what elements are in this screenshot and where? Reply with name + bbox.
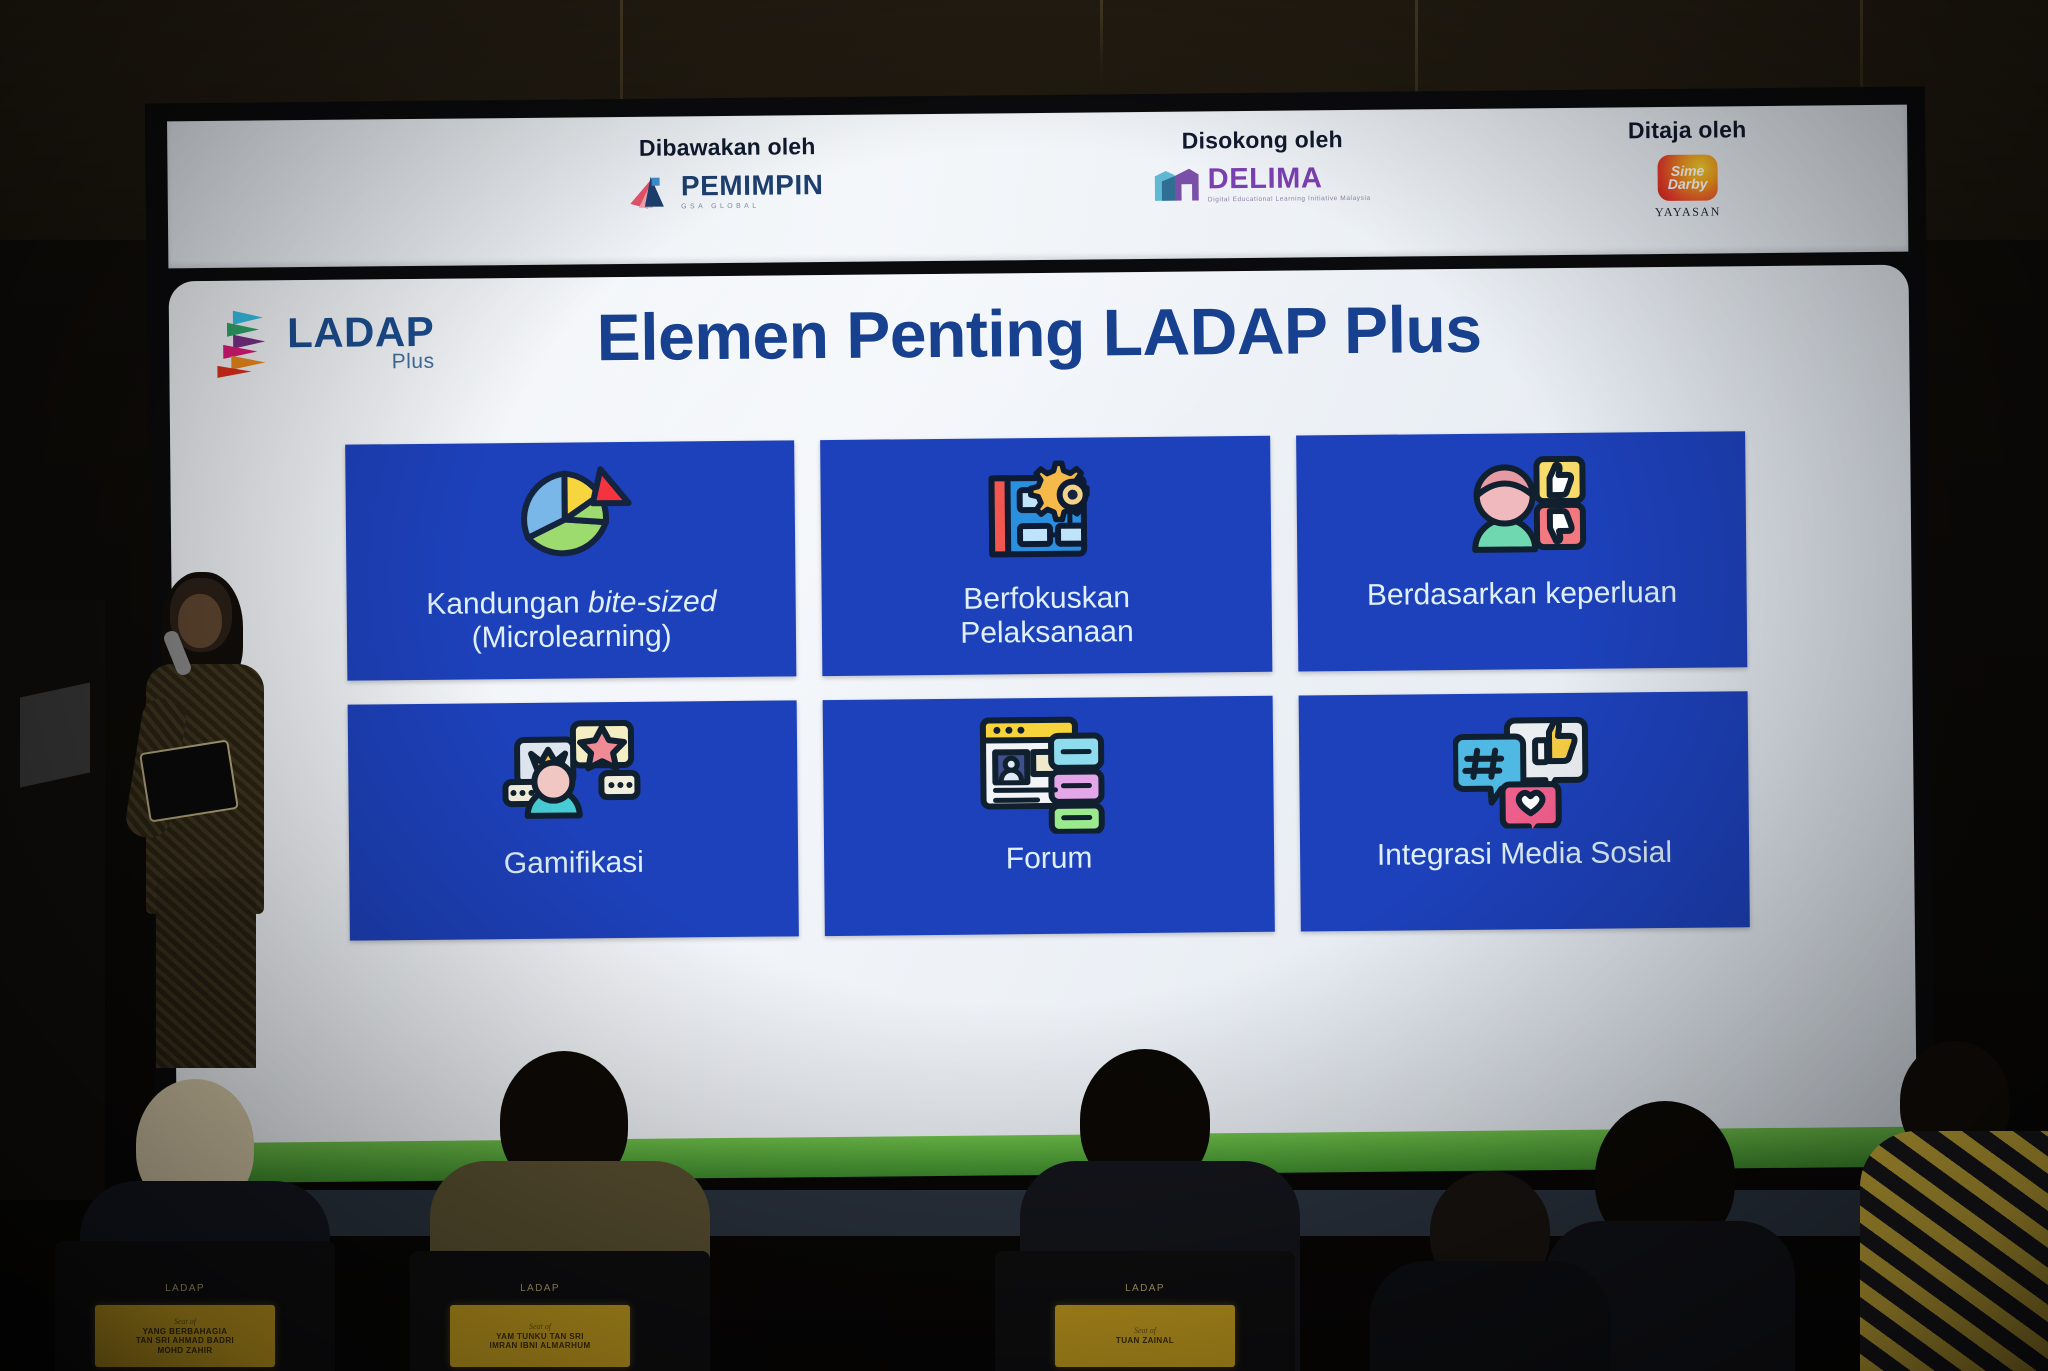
delima-logo-icon: DELIMA Digital Educational Learning Init…: [1098, 163, 1428, 205]
pemimpin-wordmark: PEMIMPIN: [681, 171, 824, 200]
nameplate-line1: YAM TUNKU TAN SRI: [496, 1332, 584, 1341]
nameplate-script: Seat of: [174, 1317, 196, 1326]
card-label-prefix: Gamifikasi: [504, 846, 644, 880]
elements-grid: Kandungan bite-sized (Microlearning): [345, 431, 1750, 940]
gamification-badge-icon: [500, 716, 645, 841]
card-label-prefix: Berdasarkan keperluan: [1367, 576, 1678, 612]
projection-screen: Dibawakan oleh PEMIMPIN GSA GLOBAL Disok…: [145, 86, 1935, 1183]
audience-member: [1370, 1181, 1600, 1371]
delima-tagline: Digital Educational Learning Initiative …: [1208, 196, 1371, 204]
card-label-prefix: Integrasi Media Sosial: [1377, 836, 1672, 872]
audience-member: [1860, 1041, 2048, 1371]
sponsor-block-supporter: Disokong oleh DELIMA Digital Educational…: [1097, 125, 1428, 205]
sponsor-label: Disokong oleh: [1097, 125, 1427, 155]
delima-wordmark: DELIMA: [1208, 164, 1371, 195]
card-label: Kandungan bite-sized (Microlearning): [414, 585, 729, 655]
card-label-emphasis: bite-sized: [588, 585, 717, 619]
pemimpin-logo-icon: PEMIMPIN GSA GLOBAL: [568, 170, 888, 211]
card-label: Gamifikasi: [492, 846, 656, 881]
tablet-device: [139, 739, 239, 822]
blueprint-gear-icon: [977, 451, 1114, 576]
auditorium-scene: Dibawakan oleh PEMIMPIN GSA GLOBAL Disok…: [0, 0, 2048, 1371]
nameplate-brand: LADAP: [1055, 1283, 1235, 1294]
pie-chart-icon: [504, 456, 637, 581]
sponsor-label: Ditaja oleh: [1537, 115, 1837, 145]
card-label-line2: (Microlearning): [471, 619, 671, 654]
card-label-prefix: Forum: [1006, 842, 1093, 876]
pemimpin-tagline: GSA GLOBAL: [681, 202, 824, 210]
sponsor-label: Dibawakan oleh: [567, 132, 887, 162]
nameplate-line1: TUAN ZAINAL: [1116, 1336, 1174, 1345]
card-needs-based[interactable]: Berdasarkan keperluan: [1296, 431, 1748, 671]
card-label: Berdasarkan keperluan: [1355, 576, 1690, 613]
nameplate-line3: MOHD ZAHIR: [157, 1346, 212, 1355]
sponsor-strip: Dibawakan oleh PEMIMPIN GSA GLOBAL Disok…: [167, 105, 1908, 269]
nameplate: LADAP Seat of YAM TUNKU TAN SRI IMRAN IB…: [450, 1305, 630, 1367]
nameplate-line2: TAN SRI AHMAD BADRI: [136, 1336, 234, 1345]
card-label-line2: Pelaksanaan: [960, 615, 1134, 650]
nameplate-line1: YANG BERBAHAGIA: [143, 1327, 228, 1336]
nameplate-line2: IMRAN IBNI ALMARHUM: [489, 1341, 590, 1350]
nameplate: LADAP Seat of YANG BERBAHAGIA TAN SRI AH…: [95, 1305, 275, 1367]
card-label: Forum: [994, 841, 1105, 876]
card-implementation-focus[interactable]: Berfokuskan Pelaksanaan: [820, 436, 1272, 676]
pemimpin-mark-icon: [632, 174, 674, 208]
card-gamification[interactable]: Gamifikasi: [348, 700, 800, 940]
card-label-prefix: Berfokuskan: [963, 581, 1130, 616]
card-social-media[interactable]: Integrasi Media Sosial: [1298, 691, 1750, 931]
user-feedback-icon: [1453, 447, 1590, 572]
yayasan-caption: YAYASAN: [1655, 204, 1721, 220]
wall-seam: [1100, 0, 1103, 90]
sime-darby-line2: Darby: [1668, 178, 1708, 192]
card-microlearning[interactable]: Kandungan bite-sized (Microlearning): [345, 440, 797, 680]
delima-mark-icon: [1155, 167, 1201, 203]
forum-discussion-icon: [977, 711, 1120, 836]
nameplate-brand: LADAP: [95, 1283, 275, 1294]
presenter: [128, 578, 278, 998]
card-label-prefix: Kandungan: [426, 586, 588, 621]
lectern-panel: [20, 683, 90, 788]
nameplate-script: Seat of: [1134, 1326, 1156, 1335]
nameplate-brand: LADAP: [450, 1283, 630, 1294]
nameplate: LADAP Seat of TUAN ZAINAL: [1055, 1305, 1235, 1367]
sime-darby-mark-icon: Sime Darby: [1657, 154, 1717, 201]
card-label: Integrasi Media Sosial: [1365, 836, 1684, 873]
social-media-icon: [1453, 707, 1594, 832]
sponsor-block-sponsor: Ditaja oleh Sime Darby YAYASAN: [1537, 115, 1838, 221]
page-title: Elemen Penting LADAP Plus: [169, 287, 1910, 380]
slide-body: LADAP Plus Elemen Penting LADAP Plus: [169, 265, 1917, 1162]
card-label: Berfokuskan Pelaksanaan: [948, 581, 1146, 650]
sponsor-block-presenter: Dibawakan oleh PEMIMPIN GSA GLOBAL: [567, 132, 888, 211]
card-forum[interactable]: Forum: [823, 696, 1275, 936]
sime-darby-yayasan-logo-icon: Sime Darby YAYASAN: [1537, 153, 1838, 221]
nameplate-script: Seat of: [529, 1322, 551, 1331]
